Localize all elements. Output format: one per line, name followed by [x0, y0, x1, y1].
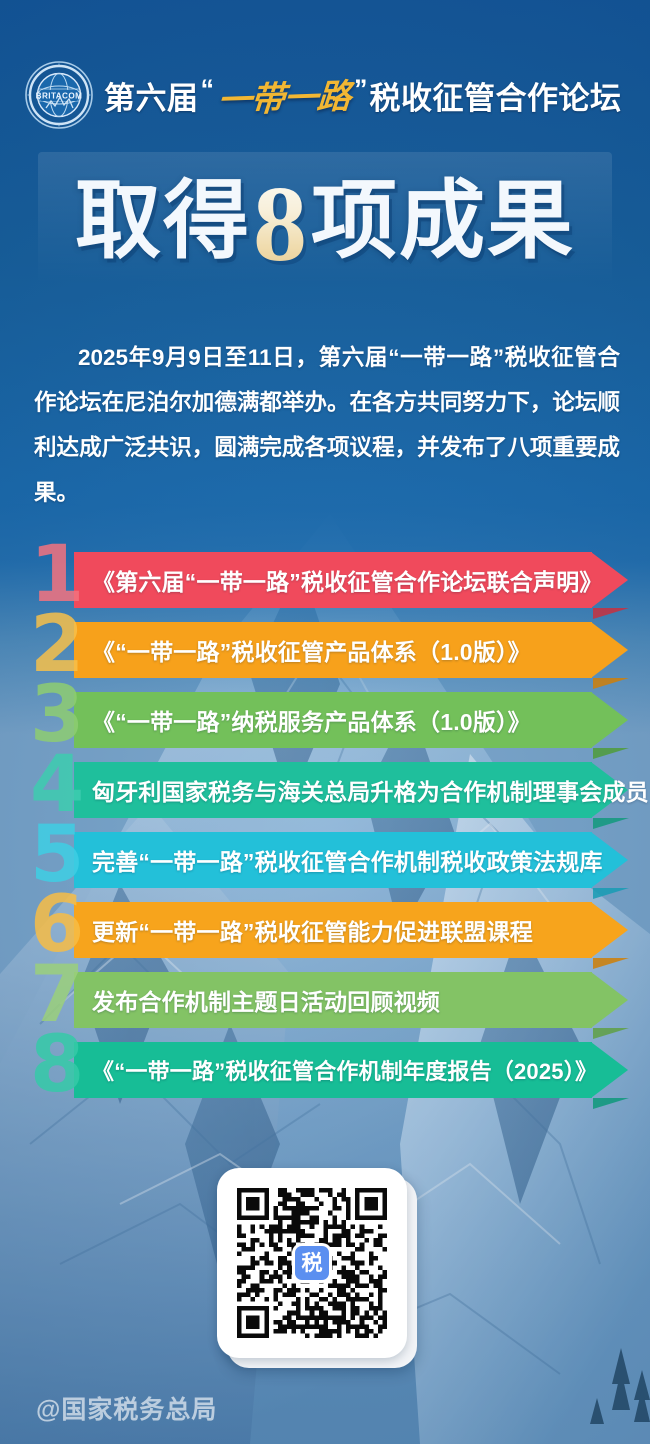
achievement-label: 《“一带一路”纳税服务产品体系（1.0版）》 [92, 692, 610, 748]
header-quote-open: “ [199, 74, 217, 105]
poster-header: BRITACOM 第六届 “ 一带一路 ” 税收征管合作论坛 [0, 52, 650, 138]
qr-code-block[interactable]: 税 [217, 1168, 417, 1368]
achievement-label: 更新“一带一路”税收征管能力促进联盟课程 [92, 902, 610, 958]
achievement-row[interactable]: 3《“一带一路”纳税服务产品体系（1.0版）》 [0, 686, 650, 752]
header-title: 第六届 “ 一带一路 ” 税收征管合作论坛 [104, 71, 622, 120]
britacom-globe-emblem-icon: BRITACOM [24, 60, 94, 130]
achievement-label: 匈牙利国家税务与海关总局升格为合作机制理事会成员 [92, 762, 610, 818]
poster-root: BRITACOM 第六届 “ 一带一路 ” 税收征管合作论坛 取得 8 项成果 … [0, 0, 650, 1444]
achievement-label: 《“一带一路”税收征管合作机制年度报告（2025）》 [92, 1042, 610, 1098]
header-title-suffix: 税收征管合作论坛 [370, 73, 622, 118]
achievement-row[interactable]: 4匈牙利国家税务与海关总局升格为合作机制理事会成员 [0, 756, 650, 822]
achievement-row[interactable]: 6更新“一带一路”税收征管能力促进联盟课程 [0, 896, 650, 962]
header-title-gold: 一带一路 [214, 68, 354, 122]
achievement-label: 完善“一带一路”税收征管合作机制税收政策法规库 [92, 832, 610, 888]
achievement-row[interactable]: 8《“一带一路”税收征管合作机制年度报告（2025）》 [0, 1036, 650, 1102]
watermark: @国家税务总局 [36, 1390, 217, 1426]
header-quote-close: ” [352, 74, 370, 105]
hero-number: 8 [251, 171, 311, 279]
intro-paragraph: 2025年9月9日至11日，第六届“一带一路”税收征管合作论坛在尼泊尔加德满都举… [34, 335, 620, 515]
hero-prefix: 取得 [75, 178, 251, 264]
qr-card[interactable]: 税 [217, 1168, 407, 1358]
achievement-list: 1《第六届“一带一路”税收征管合作论坛联合声明》2《“一带一路”税收征管产品体系… [0, 546, 650, 1102]
achievement-label: 《“一带一路”税收征管产品体系（1.0版）》 [92, 622, 610, 678]
achievement-row[interactable]: 1《第六届“一带一路”税收征管合作论坛联合声明》 [0, 546, 650, 612]
achievement-label: 发布合作机制主题日活动回顾视频 [92, 972, 610, 1028]
header-title-prefix: 第六届 [104, 73, 199, 118]
hero-suffix: 项成果 [311, 178, 575, 264]
achievement-row[interactable]: 7发布合作机制主题日活动回顾视频 [0, 966, 650, 1032]
achievement-label: 《第六届“一带一路”税收征管合作论坛联合声明》 [92, 552, 610, 608]
hero-title: 取得 8 项成果 [0, 156, 650, 286]
achievement-row[interactable]: 2《“一带一路”税收征管产品体系（1.0版）》 [0, 616, 650, 682]
achievement-row[interactable]: 5完善“一带一路”税收征管合作机制税收政策法规库 [0, 826, 650, 892]
qr-center-logo: 税 [295, 1246, 329, 1280]
